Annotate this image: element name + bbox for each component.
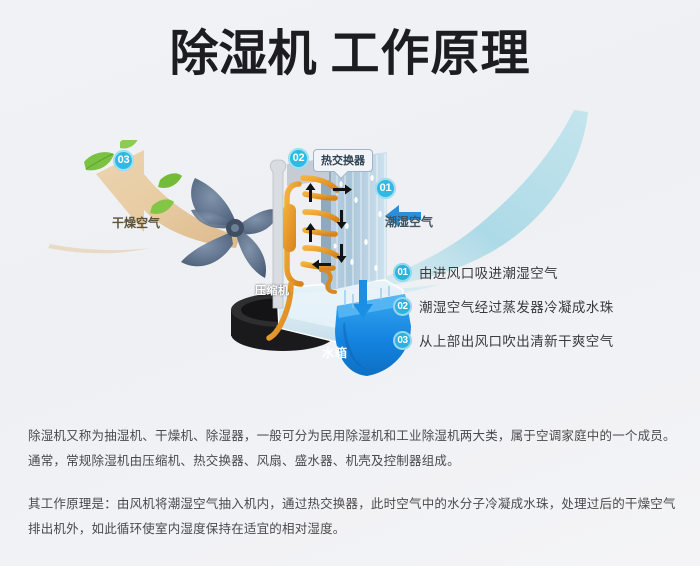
diagram-badge-03: 03 [113, 150, 134, 171]
step-badge-02: 02 [393, 297, 412, 316]
list-item: 03 从上部出风口吹出清新干爽空气 [393, 323, 693, 357]
description-paragraph-1: 除湿机又称为抽湿机、干燥机、除湿器，一般可分为民用除湿机和工业除湿机两大类，属于… [28, 424, 676, 474]
label-water-tank: 水箱 [322, 344, 348, 361]
diagram-badge-01: 01 [375, 178, 396, 199]
diagram-badge-02: 02 [288, 148, 309, 169]
heat-exchanger-callout: 热交换器 [313, 149, 373, 172]
list-item: 02 潮湿空气经过蒸发器冷凝成水珠 [393, 289, 693, 323]
page-title: 除湿机工作原理 [0, 28, 700, 82]
label-compressor: 压缩机 [255, 282, 290, 298]
description-paragraph-2: 其工作原理是：由风机将潮湿空气抽入机内，通过热交换器，此时空气中的水分子冷凝成水… [28, 492, 676, 542]
steps-list: 01 由进风口吸进潮湿空气 02 潮湿空气经过蒸发器冷凝成水珠 03 从上部出风… [393, 255, 693, 357]
description-block: 除湿机又称为抽湿机、干燥机、除湿器，一般可分为民用除湿机和工业除湿机两大类，属于… [28, 424, 676, 542]
paragraph-2-line-1: 其工作原理是：由风机将潮湿空气抽入机内，通过热交换器，此时空气中的水分子冷凝成水… [28, 492, 676, 517]
label-humid-air: 潮湿空气 [385, 213, 433, 230]
leaf-icon [120, 140, 138, 149]
step-text-03: 从上部出风口吹出清新干爽空气 [419, 330, 614, 350]
paragraph-2-line-2: 排出机外，如此循环使室内湿度保持在适宜的相对湿度。 [28, 517, 676, 542]
page-title-part-2: 工作原理 [331, 27, 531, 81]
step-text-01: 由进风口吸进潮湿空气 [419, 262, 558, 282]
label-dry-air: 干燥空气 [112, 214, 160, 231]
paragraph-1-line-2: 通常，常规除湿机由压缩机、热交换器、风扇、盛水器、机壳及控制器组成。 [28, 449, 676, 474]
poster-root: 除湿机工作原理 [0, 0, 700, 566]
step-badge-01: 01 [393, 263, 412, 282]
paragraph-1-line-1: 除湿机又称为抽湿机、干燥机、除湿器，一般可分为民用除湿机和工业除湿机两大类，属于… [28, 424, 676, 449]
step-text-02: 潮湿空气经过蒸发器冷凝成水珠 [419, 296, 614, 316]
page-title-part-1: 除湿机 [169, 27, 316, 81]
step-badge-03: 03 [393, 331, 412, 350]
list-item: 01 由进风口吸进潮湿空气 [393, 255, 693, 289]
